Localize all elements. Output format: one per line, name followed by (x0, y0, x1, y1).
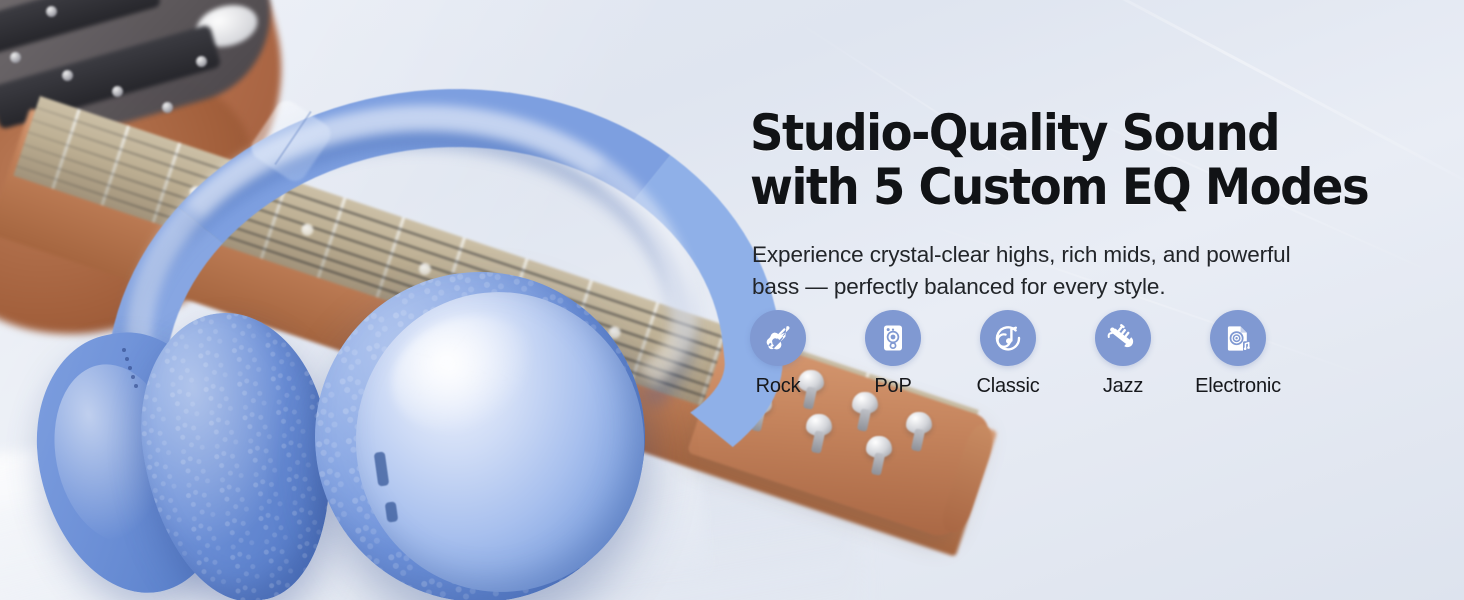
guitar-body-lower (0, 30, 289, 371)
guitar-screw (196, 56, 207, 67)
guitar-knob (192, 0, 262, 53)
left-earcup-shell (17, 316, 254, 600)
guitar-screw (10, 52, 21, 63)
eq-modes-list: Rock PoP (750, 310, 1266, 398)
leather-texture (299, 256, 662, 600)
headband-shading (95, 99, 709, 512)
headphone-hinge (527, 291, 567, 326)
guitar-screw (46, 6, 57, 17)
eq-mode-label: Classic (976, 375, 1039, 398)
speaker-icon (865, 310, 921, 366)
earcup-highlight (376, 298, 553, 451)
electric-guitar-icon (750, 310, 806, 366)
banner-content: Studio-Quality Sound with 5 Custom EQ Mo… (750, 0, 1464, 600)
guitar-pickup (0, 0, 162, 61)
eq-mode-label: Jazz (1103, 375, 1143, 398)
charging-port (374, 451, 390, 486)
eq-mode-rock[interactable]: Rock (750, 310, 806, 398)
sheet-music-disc-icon (1210, 310, 1266, 366)
headband-slider-seam (274, 111, 311, 165)
right-earcup-shell (341, 278, 659, 600)
aux-port (385, 501, 399, 522)
right-earcup-cushion (299, 256, 662, 600)
headphone-headband (79, 56, 798, 570)
vinyl-music-note-icon (980, 310, 1036, 366)
surface-shadow (0, 431, 867, 600)
eq-mode-pop[interactable]: PoP (865, 310, 921, 398)
eq-mode-jazz[interactable]: Jazz (1095, 310, 1151, 398)
headphones-photo (60, 80, 760, 600)
eq-mode-label: PoP (874, 375, 911, 398)
guitar-body (0, 0, 322, 316)
eq-mode-classic[interactable]: Classic (980, 310, 1036, 398)
subtitle: Experience crystal-clear highs, rich mid… (752, 239, 1332, 304)
product-banner: Studio-Quality Sound with 5 Custom EQ Mo… (0, 0, 1464, 600)
guitar-pickguard (0, 0, 292, 157)
microphone-vents (122, 348, 126, 352)
trumpet-icon (1095, 310, 1151, 366)
guitar-screw (162, 102, 173, 113)
eq-mode-label: Rock (756, 375, 801, 398)
surface-plane (0, 381, 708, 600)
headphone-hinge (549, 371, 601, 413)
eq-mode-label: Electronic (1195, 375, 1281, 398)
headband-slider (247, 96, 335, 185)
leather-texture (123, 299, 351, 600)
eq-mode-electronic[interactable]: Electronic (1210, 310, 1266, 398)
guitar-pickup (0, 24, 222, 130)
guitar-screw (62, 70, 73, 81)
page-title: Studio-Quality Sound with 5 Custom EQ Mo… (750, 106, 1412, 214)
left-earcup-cushion (123, 299, 351, 600)
headband-highlight (103, 77, 709, 487)
guitar-screw (112, 86, 123, 97)
